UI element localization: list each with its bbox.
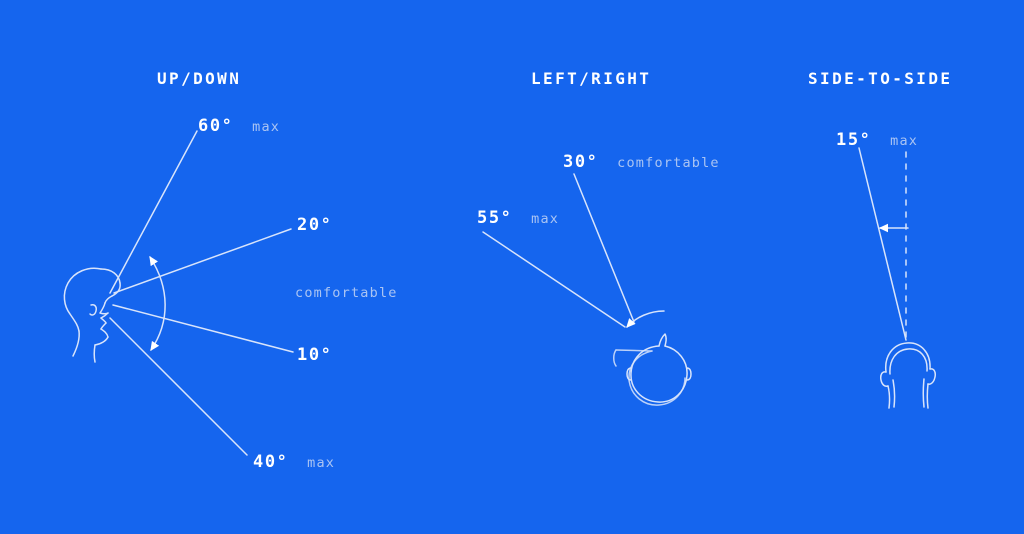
- label-lr-comfort-qualifier: comfortable: [617, 155, 720, 171]
- label-up-comfort: 20°: [297, 215, 333, 235]
- gaze-line-0: [113, 305, 293, 352]
- diagram-canvas: UP/DOWN LEFT/RIGHT SIDE-TO-SIDE 60° max …: [0, 0, 1024, 534]
- label-sts-max: 15° max: [836, 130, 918, 150]
- label-down-comfort: 10°: [297, 345, 333, 365]
- label-up-comfort-degrees: 20°: [297, 215, 333, 235]
- head-profile-side-view: [64, 268, 120, 362]
- panel-title-up-down: UP/DOWN: [157, 69, 241, 88]
- label-lr-max-degrees: 55°: [477, 208, 513, 228]
- head-back-view: [881, 343, 936, 408]
- label-sts-max-degrees: 15°: [836, 130, 872, 150]
- label-lr-comfort: 30° comfortable: [563, 152, 720, 172]
- gaze-line-20: [114, 229, 291, 293]
- label-up-max-degrees: 60°: [198, 116, 234, 136]
- label-lr-max: 55° max: [477, 208, 559, 228]
- label-comfortable-note: comfortable: [295, 282, 398, 301]
- panel-title-side-to-side: SIDE-TO-SIDE: [808, 69, 952, 88]
- label-up-max-qualifier: max: [252, 119, 280, 135]
- comfort-range-arc: [150, 257, 165, 350]
- head-top-view: [614, 334, 691, 405]
- label-down-max-degrees: 40°: [253, 452, 289, 472]
- label-lr-comfort-degrees: 30°: [563, 152, 599, 172]
- label-down-comfort-degrees: 10°: [297, 345, 333, 365]
- label-down-max-qualifier: max: [307, 455, 335, 471]
- tilt-axis-line: [859, 148, 906, 340]
- gaze-line-60-max: [110, 131, 197, 293]
- label-lr-max-qualifier: max: [531, 211, 559, 227]
- gaze-line-40-max: [110, 318, 247, 455]
- label-sts-max-qualifier: max: [890, 133, 918, 149]
- label-comfortable-note-text: comfortable: [295, 285, 398, 301]
- label-up-max: 60° max: [198, 116, 280, 136]
- panel-title-left-right: LEFT/RIGHT: [531, 69, 651, 88]
- label-down-max: 40° max: [253, 452, 335, 472]
